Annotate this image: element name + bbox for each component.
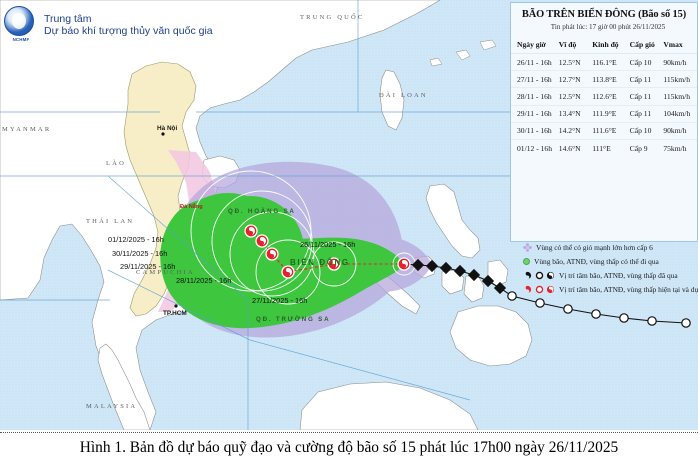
cell-vmax: 115km/h [661, 88, 697, 105]
storm-info-panel[interactable]: BÃO TRÊN BIỂN ĐÔNG (Bão số 15) Tin phát … [510, 2, 698, 242]
col-vmax: Vmax [661, 36, 697, 54]
cell-vi-do: 14.6°N [557, 139, 590, 156]
cell-vmax: 90km/h [661, 54, 697, 71]
cell-kinh-do: 113.8°E [590, 71, 627, 88]
agency-branding: NCHMF Trung tâm Dự báo khí tượng thủy vă… [4, 6, 213, 44]
table-row: 28/11 - 16h 12.5°N 112.6°E Cấp 11 115km/… [511, 88, 697, 105]
cell-ngay-gio: 29/11 - 16h [511, 105, 557, 122]
forecast-table: Ngày giờ Vĩ độ Kinh độ Cấp gió Vmax 26/1… [511, 36, 697, 156]
logo-abbreviation: NCHMF [4, 37, 38, 42]
table-row: 26/11 - 16h 12.5°N 116.1°E Cấp 10 90km/h [511, 54, 697, 71]
logo-wrapper: NCHMF [4, 6, 38, 44]
col-cap-gio: Cấp gió [628, 36, 662, 54]
panel-title: BÃO TRÊN BIỂN ĐÔNG (Bão số 15) [511, 3, 697, 21]
cell-cap-gio: Cấp 10 [628, 122, 662, 139]
cell-kinh-do: 111°E [590, 139, 627, 156]
cell-vi-do: 12.5°N [557, 54, 590, 71]
table-row: 30/11 - 16h 14.2°N 111.6°E Cấp 10 90km/h [511, 122, 697, 139]
table-row: 27/11 - 16h 12.7°N 113.8°E Cấp 11 115km/… [511, 71, 697, 88]
panel-subtitle: Tin phát lúc: 17 giờ 00 phút 26/11/2025 [511, 21, 697, 36]
col-kinh-do: Kinh độ [590, 36, 627, 54]
cell-vi-do: 14.2°N [557, 122, 590, 139]
cell-vi-do: 12.7°N [557, 71, 590, 88]
cell-cap-gio: Cấp 11 [628, 71, 662, 88]
cell-vmax: 90km/h [661, 122, 697, 139]
cell-cap-gio: Cấp 10 [628, 54, 662, 71]
agency-name-line2: Dự báo khí tượng thủy văn quốc gia [44, 25, 213, 38]
col-ngay-gio: Ngày giờ [511, 36, 557, 54]
figure-root: TRUNG QUỐC MYANMAR LÀO THÁI LAN CAMPUCHI… [0, 0, 698, 465]
cell-kinh-do: 116.1°E [590, 54, 627, 71]
ncmhf-globe-icon [4, 6, 34, 36]
table-header-row: Ngày giờ Vĩ độ Kinh độ Cấp gió Vmax [511, 36, 697, 54]
col-vi-do: Vĩ độ [557, 36, 590, 54]
cell-vmax: 104km/h [661, 105, 697, 122]
cell-vi-do: 13.4°N [557, 105, 590, 122]
cell-ngay-gio: 27/11 - 16h [511, 71, 557, 88]
figure-caption: Hình 1. Bản đồ dự báo quỹ đạo và cường đ… [0, 439, 698, 457]
cell-cap-gio: Cấp 11 [628, 88, 662, 105]
cell-ngay-gio: 01/12 - 16h [511, 139, 557, 156]
cell-ngay-gio: 28/11 - 16h [511, 88, 557, 105]
figure-caption-zone: Hình 1. Bản đồ dự báo quỹ đạo và cường đ… [0, 430, 698, 465]
cell-ngay-gio: 26/11 - 16h [511, 54, 557, 71]
cell-vmax: 115km/h [661, 71, 697, 88]
agency-name-line1: Trung tâm [44, 13, 213, 26]
table-row: 01/12 - 16h 14.6°N 111°E Cấp 9 75km/h [511, 139, 697, 156]
table-row: 29/11 - 16h 13.4°N 111.9°E Cấp 11 104km/… [511, 105, 697, 122]
cell-cap-gio: Cấp 9 [628, 139, 662, 156]
cell-kinh-do: 112.6°E [590, 88, 627, 105]
cell-kinh-do: 111.9°E [590, 105, 627, 122]
caption-divider [0, 432, 698, 433]
cell-vmax: 75km/h [661, 139, 697, 156]
cell-vi-do: 12.5°N [557, 88, 590, 105]
cell-ngay-gio: 30/11 - 16h [511, 122, 557, 139]
cell-cap-gio: Cấp 11 [628, 105, 662, 122]
cell-kinh-do: 111.6°E [590, 122, 627, 139]
agency-name: Trung tâm Dự báo khí tượng thủy văn quốc… [44, 13, 213, 38]
